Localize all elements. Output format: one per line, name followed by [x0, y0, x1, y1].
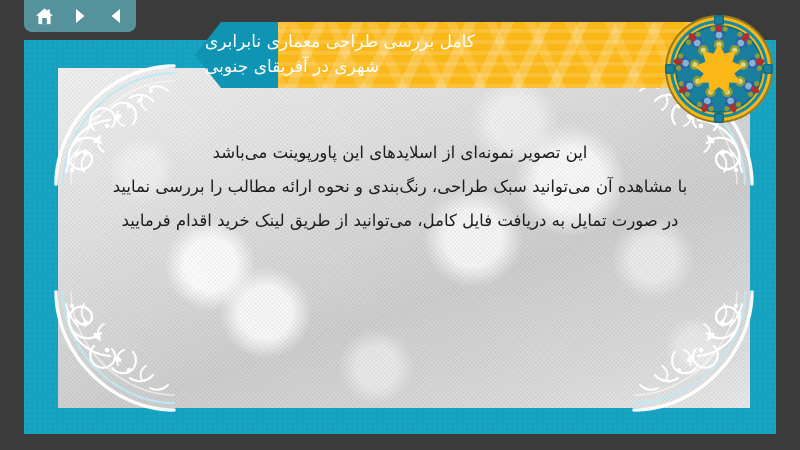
islamic-mandala-ornament: [663, 13, 775, 125]
slide-content-panel: [58, 68, 750, 408]
previous-slide-button[interactable]: [105, 5, 127, 27]
slide-navigation-bar: [24, 0, 136, 32]
home-button[interactable]: [33, 5, 55, 27]
page-title: کامل بررسی طراحی معماری نابرابری شهری در…: [195, 22, 715, 88]
triangle-right-icon: [71, 7, 89, 25]
slide-viewer: این تصویر نمونه‌ای از اسلایدهای این پاور…: [0, 0, 800, 450]
page-title-line-1: کامل بررسی طراحی معماری نابرابری: [205, 30, 475, 55]
page-title-line-2: شهری در آفریقای جنوبی: [205, 55, 379, 80]
slide-body-text: این تصویر نمونه‌ای از اسلایدهای این پاور…: [48, 136, 752, 238]
next-slide-button[interactable]: [69, 5, 91, 27]
body-line-1: این تصویر نمونه‌ای از اسلایدهای این پاور…: [48, 136, 752, 170]
home-icon: [35, 7, 54, 26]
slide-title-ribbon: کامل بررسی طراحی معماری نابرابری شهری در…: [195, 22, 715, 88]
body-line-2: با مشاهده آن می‌توانید سبک طراحی، رنگ‌بن…: [48, 170, 752, 204]
triangle-left-icon: [107, 7, 125, 25]
body-line-3: در صورت تمایل به دریافت فایل کامل، می‌تو…: [48, 204, 752, 238]
